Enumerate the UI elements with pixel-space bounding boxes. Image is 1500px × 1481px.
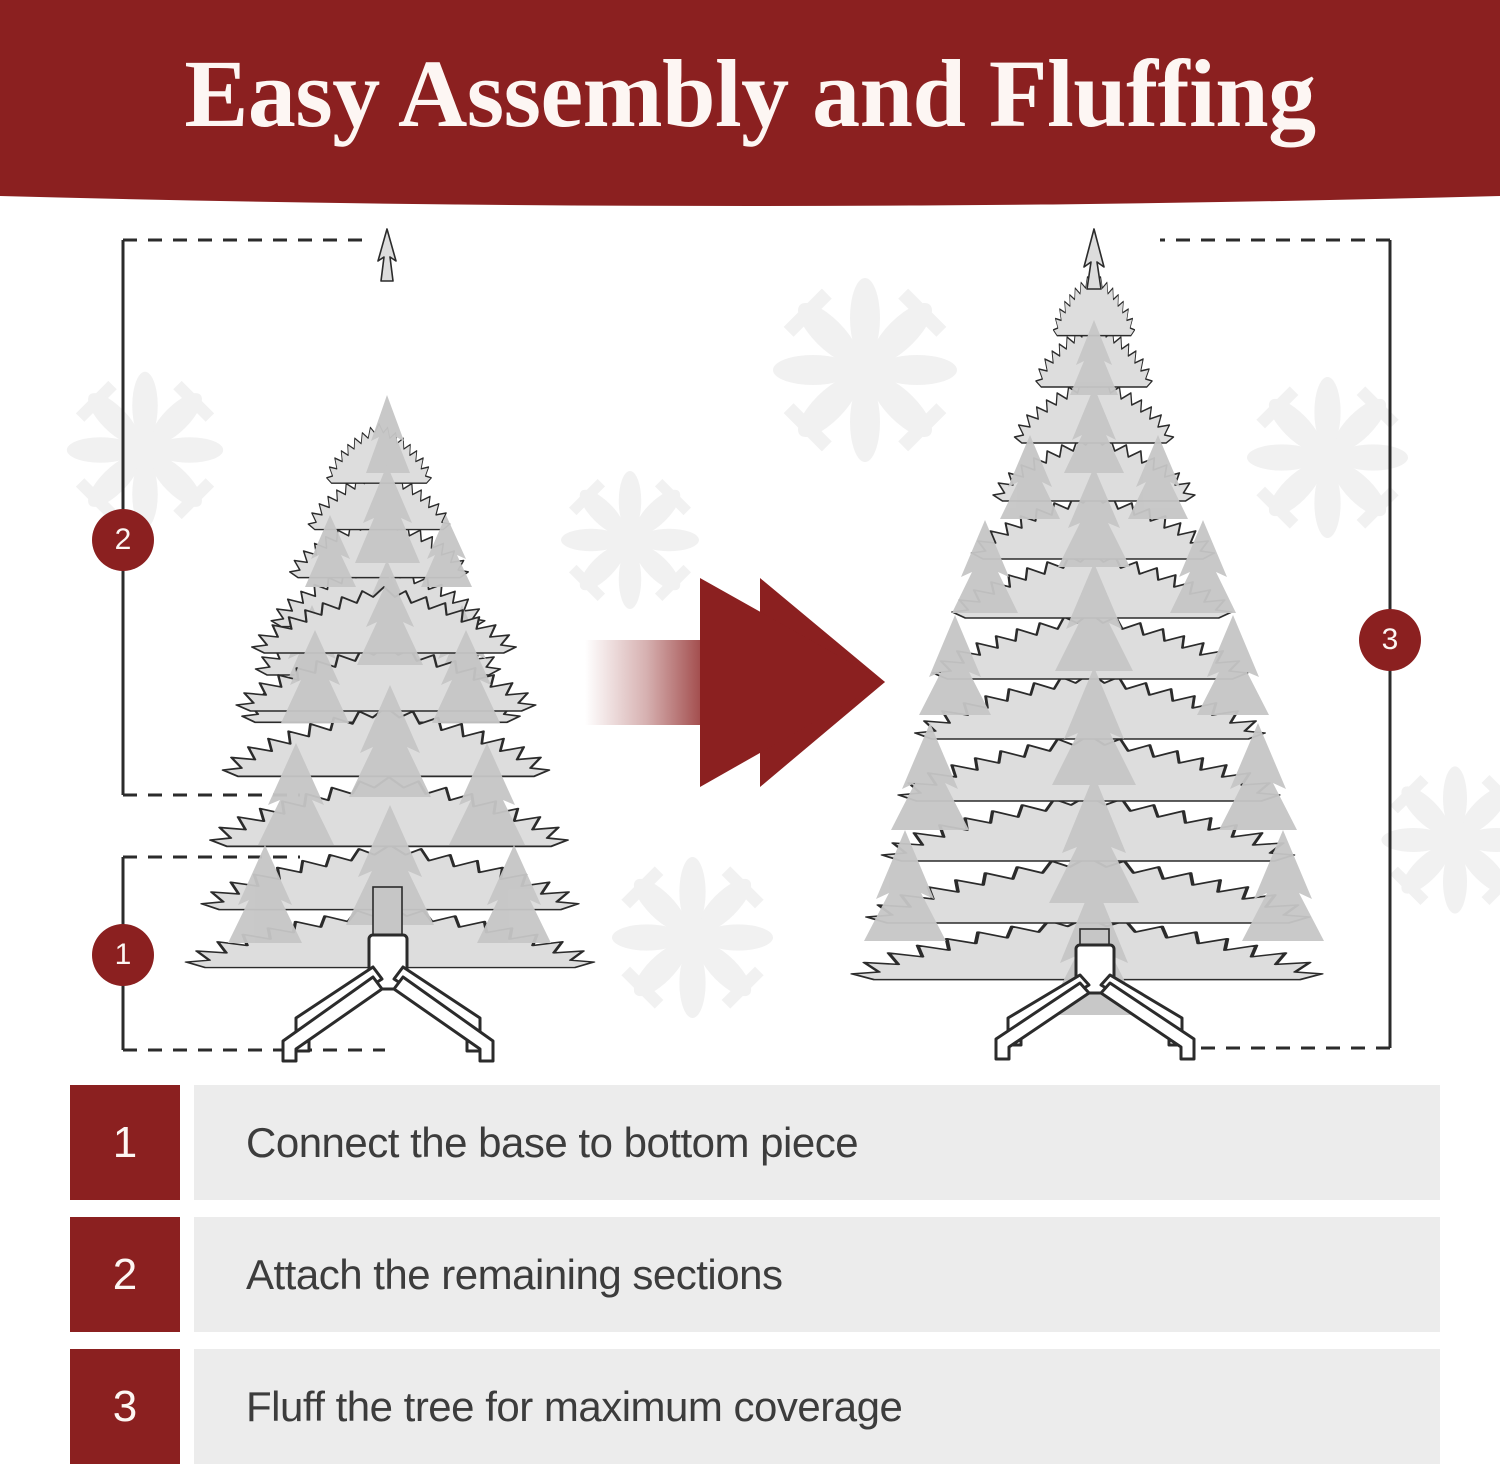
- callout-badge-3-label: 3: [1382, 623, 1399, 657]
- step-row: 2 Attach the remaining sections: [70, 1217, 1500, 1332]
- assembled-tree: [852, 229, 1324, 1015]
- step-row: 1 Connect the base to bottom piece: [70, 1085, 1500, 1200]
- steps-list: 1 Connect the base to bottom piece 2 Att…: [0, 1085, 1500, 1481]
- callout-badge-1: 1: [92, 924, 154, 986]
- callout-badge-3: 3: [1359, 609, 1421, 671]
- header-banner: Easy Assembly and Fluffing: [0, 0, 1500, 215]
- diagram-canvas: [0, 215, 1500, 1075]
- callout-badge-2-label: 2: [115, 523, 132, 557]
- step-number-2: 2: [70, 1217, 180, 1332]
- right-arrow: [585, 578, 885, 787]
- step-text-3: Fluff the tree for maximum coverage: [194, 1349, 1440, 1464]
- page-title: Easy Assembly and Fluffing: [0, 34, 1500, 154]
- step-row: 3 Fluff the tree for maximum coverage: [70, 1349, 1500, 1464]
- bottom-tree-section: [186, 575, 593, 968]
- assembly-diagram: 2 1 3: [0, 215, 1500, 1075]
- step-text-2: Attach the remaining sections: [194, 1217, 1440, 1332]
- step-text-1: Connect the base to bottom piece: [194, 1085, 1440, 1200]
- callout-badge-2: 2: [92, 509, 154, 571]
- step-spacer: [180, 1217, 194, 1332]
- step-number-3: 3: [70, 1349, 180, 1464]
- step-spacer: [180, 1349, 194, 1464]
- callout-badge-1-label: 1: [115, 938, 132, 972]
- step-spacer: [180, 1085, 194, 1200]
- step-number-1: 1: [70, 1085, 180, 1200]
